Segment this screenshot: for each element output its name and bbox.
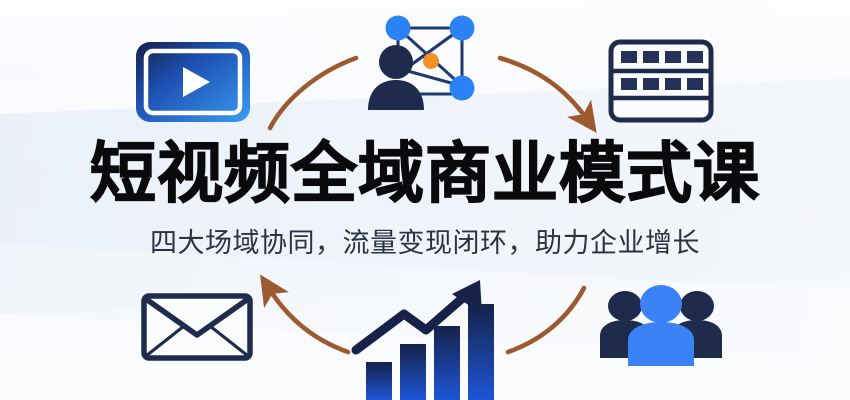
growth-bar-chart-icon (348, 272, 508, 400)
arc-bottom-right-path (508, 288, 584, 352)
page-title: 短视频全域商业模式课 (0, 138, 850, 209)
chart-bar-3 (434, 326, 460, 400)
page-subtitle: 四大场域协同，流量变现闭环，助力企业增长 (0, 221, 850, 260)
video-player-icon (130, 34, 256, 130)
user-group-glyph (598, 280, 724, 372)
poster-banner: 短视频全域商业模式课 四大场域协同，流量变现闭环，助力企业增长 (0, 0, 850, 400)
arc-top-left-path (270, 58, 356, 128)
video-player-glyph (130, 34, 256, 130)
chart-bar-4 (468, 304, 494, 400)
envelope-icon (136, 282, 258, 368)
network-node-2 (450, 16, 475, 41)
arc-top-right-path (500, 58, 586, 118)
network-node-3 (450, 76, 475, 101)
person-silhouette (368, 45, 424, 110)
arc-bottom-left-path (270, 290, 348, 352)
user-group-icon (598, 280, 724, 372)
network-glyph (362, 6, 492, 118)
server-rack-icon (604, 34, 718, 126)
envelope-glyph (136, 282, 258, 368)
network-hub-node (423, 53, 439, 69)
chart-bar-1 (366, 362, 392, 400)
chart-bar-2 (400, 344, 426, 400)
network-node-1 (386, 16, 411, 41)
headline-block: 短视频全域商业模式课 四大场域协同，流量变现闭环，助力企业增长 (0, 138, 850, 260)
network-person-icon (362, 6, 492, 118)
growth-chart-glyph (348, 272, 508, 400)
server-rack-glyph (604, 34, 718, 126)
